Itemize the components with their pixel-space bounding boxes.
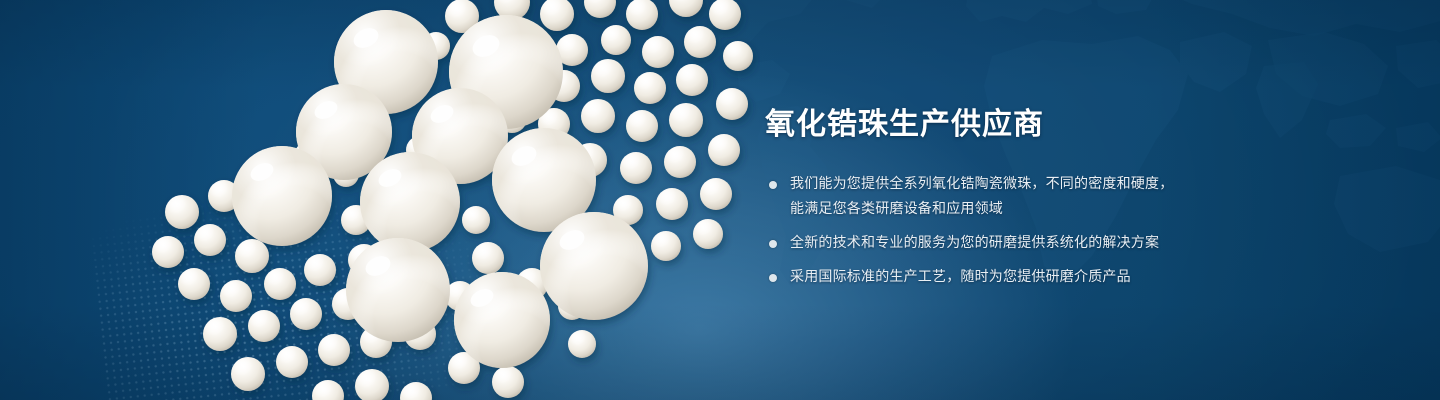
list-item-line: 采用国际标准的生产工艺，随时为您提供研磨介质产品 xyxy=(790,265,1385,290)
bullet-dot-icon xyxy=(769,240,777,248)
hero-banner: 氧化锆珠生产供应商 我们能为您提供全系列氧化锆陶瓷微珠，不同的密度和硬度， 能满… xyxy=(0,0,1440,400)
banner-copy: 氧化锆珠生产供应商 我们能为您提供全系列氧化锆陶瓷微珠，不同的密度和硬度， 能满… xyxy=(765,106,1385,290)
list-item: 采用国际标准的生产工艺，随时为您提供研磨介质产品 xyxy=(765,265,1385,290)
bullet-dot-icon xyxy=(769,181,777,189)
page-title: 氧化锆珠生产供应商 xyxy=(765,106,1385,144)
feature-list: 我们能为您提供全系列氧化锆陶瓷微珠，不同的密度和硬度， 能满足您各类研磨设备和应… xyxy=(765,172,1385,290)
list-item: 全新的技术和专业的服务为您的研磨提供系统化的解决方案 xyxy=(765,231,1385,256)
list-item: 我们能为您提供全系列氧化锆陶瓷微珠，不同的密度和硬度， 能满足您各类研磨设备和应… xyxy=(765,172,1385,222)
list-item-line: 全新的技术和专业的服务为您的研磨提供系统化的解决方案 xyxy=(790,231,1385,256)
list-item-line: 我们能为您提供全系列氧化锆陶瓷微珠，不同的密度和硬度， xyxy=(790,172,1385,197)
list-item-line: 能满足您各类研磨设备和应用领域 xyxy=(790,197,1385,222)
bullet-dot-icon xyxy=(769,274,777,282)
zirconia-beads-photo xyxy=(120,0,760,400)
